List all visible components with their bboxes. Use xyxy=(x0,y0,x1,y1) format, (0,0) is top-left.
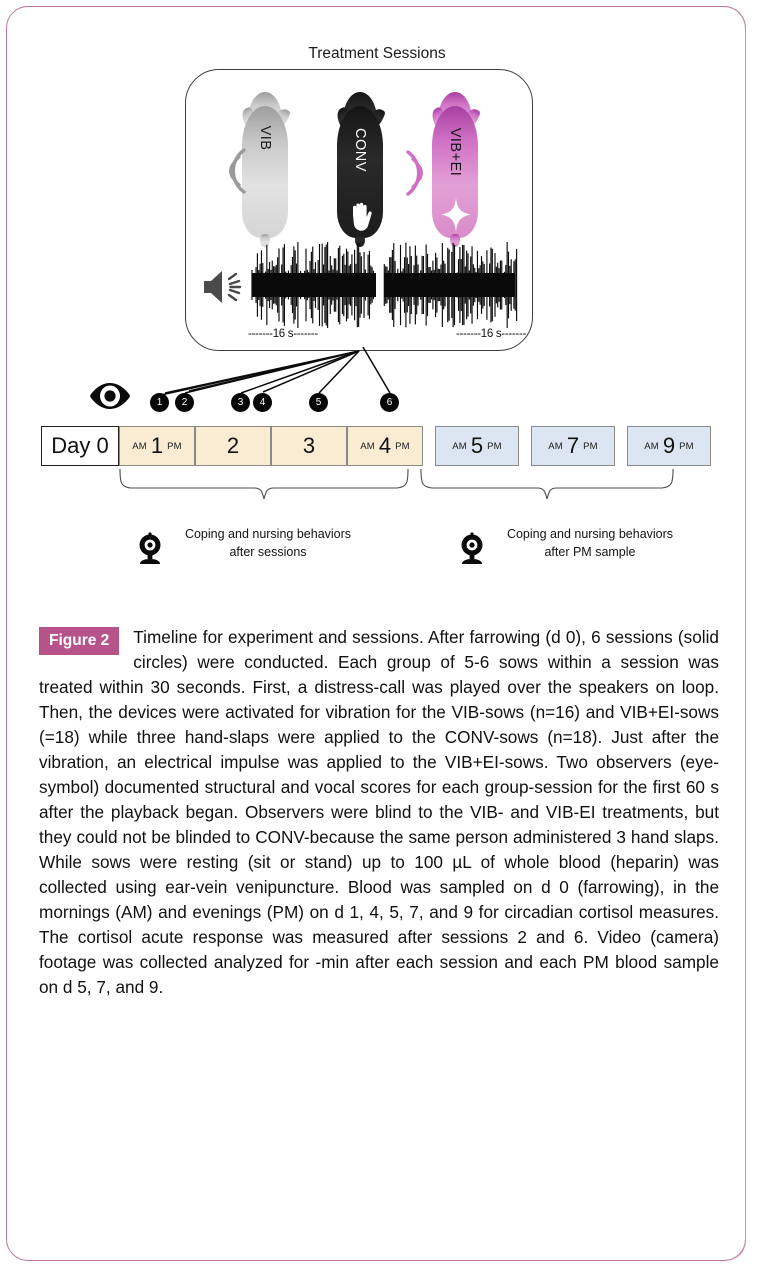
timeline-gap xyxy=(423,426,435,466)
duration-label-2: -------16 s------- xyxy=(456,328,526,340)
day-cell-3[interactable]: 3 xyxy=(271,426,347,466)
camera-label: Coping and nursing behaviors after PM sa… xyxy=(495,525,685,561)
day-number: 2 xyxy=(227,433,239,459)
timeline-gap xyxy=(519,426,531,466)
day-number: 3 xyxy=(303,433,315,459)
am-label: AM xyxy=(360,441,375,452)
page-frame: Treatment Sessions VIB xyxy=(6,6,746,1261)
day-cell-1[interactable]: AM 1 PM xyxy=(119,426,195,466)
camera-label: Coping and nursing behaviors after sessi… xyxy=(173,525,363,561)
figure-number-badge: Figure 2 xyxy=(39,627,119,655)
day-label: Day 0 xyxy=(51,433,108,459)
day-cell-day0[interactable]: Day 0 xyxy=(41,426,119,466)
pm-label: PM xyxy=(167,441,182,452)
audio-waveform xyxy=(250,242,518,328)
treatment-sessions-title: Treatment Sessions xyxy=(7,45,747,63)
pm-label: PM xyxy=(487,441,502,452)
day-cell-7[interactable]: AM 7 PM xyxy=(531,426,615,466)
timeline-braces xyxy=(7,469,747,525)
day-number: 4 xyxy=(379,433,391,459)
pig-label-vib-ei: VIB+EI xyxy=(447,128,463,177)
am-label: AM xyxy=(132,441,147,452)
pm-label: PM xyxy=(395,441,410,452)
day-number: 7 xyxy=(567,433,579,459)
day-cell-5[interactable]: AM 5 PM xyxy=(435,426,519,466)
pm-label: PM xyxy=(583,441,598,452)
day-cell-9[interactable]: AM 9 PM xyxy=(627,426,711,466)
pig-label-conv: CONV xyxy=(352,128,368,172)
figure-graphic: Treatment Sessions VIB xyxy=(7,7,747,607)
am-label: AM xyxy=(452,441,467,452)
camera-icon xyxy=(457,531,487,565)
duration-label-1: -------16 s------- xyxy=(248,328,318,340)
duration-labels: -------16 s------- -------16 s------- xyxy=(248,328,526,340)
pm-label: PM xyxy=(679,441,694,452)
eye-icon xyxy=(89,383,131,409)
hand-slap-icon xyxy=(348,202,374,232)
day-number: 5 xyxy=(471,433,483,459)
camera-icon xyxy=(135,531,165,565)
vibration-arcs-vib-ei xyxy=(404,146,438,200)
timeline: Day 0 AM 1 PM 2 3 AM 4 PM AM 5 PM xyxy=(41,426,711,466)
treatment-sessions-box: VIB CONV xyxy=(185,69,533,351)
electric-spark-icon xyxy=(440,198,472,232)
am-label: AM xyxy=(644,441,659,452)
day-cell-4[interactable]: AM 4 PM xyxy=(347,426,423,466)
session-circle-4[interactable]: 4 xyxy=(253,393,272,412)
camera-annotation-sessions: Coping and nursing behaviors after sessi… xyxy=(135,525,385,565)
speaker-icon xyxy=(200,266,248,308)
am-label: AM xyxy=(548,441,563,452)
session-circle-1[interactable]: 1 xyxy=(150,393,169,412)
session-circle-2[interactable]: 2 xyxy=(175,393,194,412)
session-circle-5[interactable]: 5 xyxy=(309,393,328,412)
day-number: 9 xyxy=(663,433,675,459)
day-cell-2[interactable]: 2 xyxy=(195,426,271,466)
session-circle-6[interactable]: 6 xyxy=(380,393,399,412)
figure-caption-text: Timeline for experiment and sessions. Af… xyxy=(39,625,719,1000)
pig-vib: VIB xyxy=(242,90,288,238)
figure-caption-block: Figure 2 Timeline for experiment and ses… xyxy=(39,625,719,1000)
vibration-arcs-vib xyxy=(214,144,248,198)
session-circle-3[interactable]: 3 xyxy=(231,393,250,412)
camera-annotation-pm-sample: Coping and nursing behaviors after PM sa… xyxy=(457,525,707,565)
timeline-gap xyxy=(615,426,627,466)
day-number: 1 xyxy=(151,433,163,459)
pig-label-vib: VIB xyxy=(257,126,273,151)
